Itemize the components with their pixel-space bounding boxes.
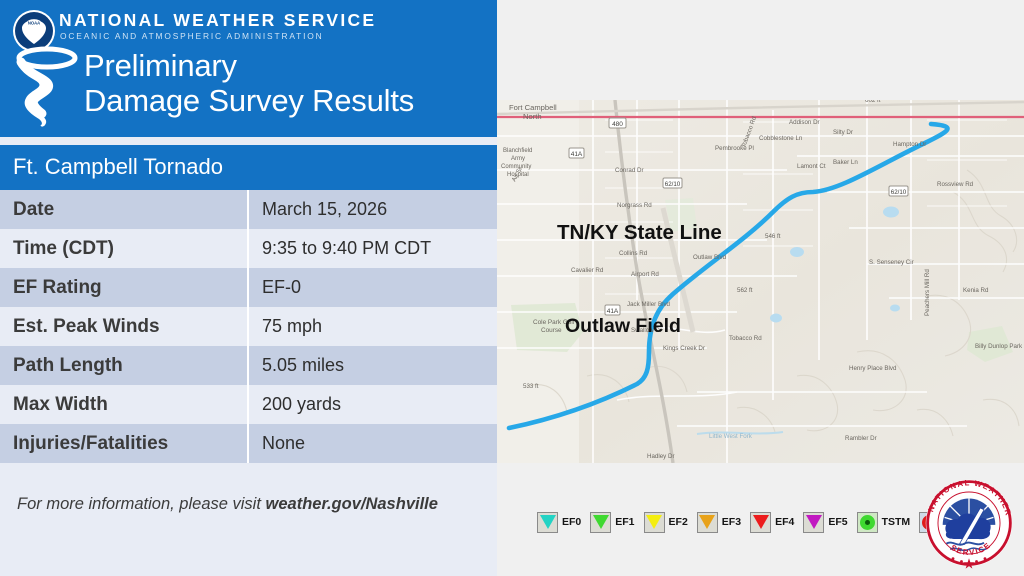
map-panel: 480 41A 41A 62/10 62/10 [497,0,1024,576]
row-value: 75 mph [249,307,497,346]
svg-text:62/10: 62/10 [891,189,907,196]
svg-text:Billy Dunlop Park: Billy Dunlop Park [975,343,1023,350]
svg-text:Hadley Dr: Hadley Dr [647,453,675,460]
row-value: 200 yards [249,385,497,424]
svg-text:546 ft: 546 ft [765,233,781,240]
svg-text:Rossview Rd: Rossview Rd [937,181,974,188]
ef3-triangle-icon [697,512,718,533]
svg-text:Pembrooke Pl: Pembrooke Pl [715,145,754,152]
svg-text:Henry Place Blvd: Henry Place Blvd [849,365,897,372]
route-shield: 62/10 [889,186,908,196]
header-banner: NOAA NATIONAL WEATHER SERVICE OCEANIC AN… [0,0,497,137]
outlaw-field-label: Outlaw Field [565,315,681,338]
table-row: EF Rating EF-0 [0,268,497,307]
svg-text:Peachers Mill Rd: Peachers Mill Rd [924,269,931,316]
info-panel: NOAA NATIONAL WEATHER SERVICE OCEANIC AN… [0,0,497,576]
svg-text:Kings Creek Dr: Kings Creek Dr [663,345,705,352]
agency-subtitle: OCEANIC AND ATMOSPHERIC ADMINISTRATION [60,32,324,40]
table-row: Path Length 5.05 miles [0,346,497,385]
survey-data-table: Date March 15, 2026 Time (CDT) 9:35 to 9… [0,190,497,463]
row-label: Max Width [0,385,249,424]
route-shield: 41A [605,305,620,315]
tornado-name-header: Ft. Campbell Tornado [0,145,497,190]
table-row: Est. Peak Winds 75 mph [0,307,497,346]
legend-label: TSTM [882,516,911,528]
svg-text:Course: Course [541,327,562,334]
svg-text:North: North [523,112,542,121]
table-row: Time (CDT) 9:35 to 9:40 PM CDT [0,229,497,268]
row-label: Est. Peak Winds [0,307,249,346]
svg-text:Outlaw Blvd: Outlaw Blvd [693,254,727,261]
legend-item-ef1[interactable]: EF1 [590,512,634,533]
svg-text:Baker Ln: Baker Ln [833,159,858,166]
svg-text:Hampton Dr: Hampton Dr [893,141,926,148]
svg-text:Rambler Dr: Rambler Dr [845,435,877,442]
route-shield: 41A [569,148,584,158]
svg-text:Blanchfield: Blanchfield [503,148,532,154]
agency-name: NATIONAL WEATHER SERVICE [59,12,376,30]
tornado-track-map[interactable]: 480 41A 41A 62/10 62/10 [497,100,1024,463]
svg-text:62/10: 62/10 [665,181,681,188]
legend-label: EF1 [615,516,634,528]
row-value: 9:35 to 9:40 PM CDT [249,229,497,268]
tstm-circle-icon [857,512,878,533]
legend-item-ef4[interactable]: EF4 [750,512,794,533]
ef0-triangle-icon [537,512,558,533]
legend-item-ef0[interactable]: EF0 [537,512,581,533]
map-canvas: 480 41A 41A 62/10 62/10 [497,100,1024,463]
route-shield: 480 [609,118,626,128]
legend-item-ef5[interactable]: EF5 [803,512,847,533]
tornado-name: Ft. Campbell Tornado [13,156,223,178]
row-label: EF Rating [0,268,249,307]
svg-text:Cavalier Rd: Cavalier Rd [571,267,604,274]
row-label: Path Length [0,346,249,385]
legend-item-tstm[interactable]: TSTM [857,512,911,533]
state-line-label: TN/KY State Line [557,221,722,245]
svg-text:Cobblestone Ln: Cobblestone Ln [759,135,803,142]
svg-text:Silty Dr: Silty Dr [833,129,853,136]
ef1-triangle-icon [590,512,611,533]
route-shield: 62/10 [663,178,682,188]
svg-text:NOAA: NOAA [28,20,40,25]
svg-text:Tobacco Rd: Tobacco Rd [729,335,762,342]
table-row: Max Width 200 yards [0,385,497,424]
row-label: Time (CDT) [0,229,249,268]
svg-text:602 ft: 602 ft [865,100,881,104]
svg-text:Airport Rd: Airport Rd [631,271,659,278]
row-value: EF-0 [249,268,497,307]
damage-survey-graphic: NOAA NATIONAL WEATHER SERVICE OCEANIC AN… [0,0,1024,576]
svg-text:Jack Miller Blvd: Jack Miller Blvd [627,301,671,308]
legend-label: EF2 [669,516,688,528]
svg-text:Kenia Rd: Kenia Rd [963,287,989,294]
svg-text:Addison Dr: Addison Dr [789,119,820,126]
legend-label: EF3 [722,516,741,528]
svg-text:Army: Army [511,156,525,162]
svg-text:533 ft: 533 ft [523,383,539,390]
table-row: Injuries/Fatalities None [0,424,497,463]
svg-text:Conrad Dr: Conrad Dr [615,167,644,174]
legend-label: EF0 [562,516,581,528]
weather-gov-link[interactable]: weather.gov/Nashville [266,495,438,513]
page-title-line1: Preliminary [84,50,237,81]
row-value: March 15, 2026 [249,190,497,229]
ef5-triangle-icon [803,512,824,533]
svg-text:Little West Fork: Little West Fork [709,433,753,440]
legend-label: EF4 [775,516,794,528]
nws-seal-logo: NATIONAL WEATHER SERVICE [922,476,1016,570]
svg-text:Norgrass Rd: Norgrass Rd [617,202,652,209]
ef2-triangle-icon [644,512,665,533]
row-label: Date [0,190,249,229]
svg-text:41A: 41A [571,151,583,158]
legend-item-ef3[interactable]: EF3 [697,512,741,533]
svg-text:Collins Rd: Collins Rd [619,250,648,257]
table-row: Date March 15, 2026 [0,190,497,229]
tornado-funnel-icon [12,46,82,128]
ef4-triangle-icon [750,512,771,533]
row-value: None [249,424,497,463]
footer-note: For more information, please visit weath… [0,495,497,514]
row-label: Injuries/Fatalities [0,424,249,463]
svg-text:Fort Campbell: Fort Campbell [509,103,557,112]
row-value: 5.05 miles [249,346,497,385]
svg-text:S. Senseney Cir: S. Senseney Cir [869,259,914,266]
legend-item-ef2[interactable]: EF2 [644,512,688,533]
legend-label: EF5 [828,516,847,528]
page-title-line2: Damage Survey Results [84,85,414,116]
svg-text:480: 480 [612,121,623,128]
footer-prefix: For more information, please visit [17,495,266,513]
svg-text:Lamont Ct: Lamont Ct [797,163,826,170]
svg-text:41A: 41A [607,308,619,315]
svg-text:562 ft: 562 ft [737,287,753,294]
